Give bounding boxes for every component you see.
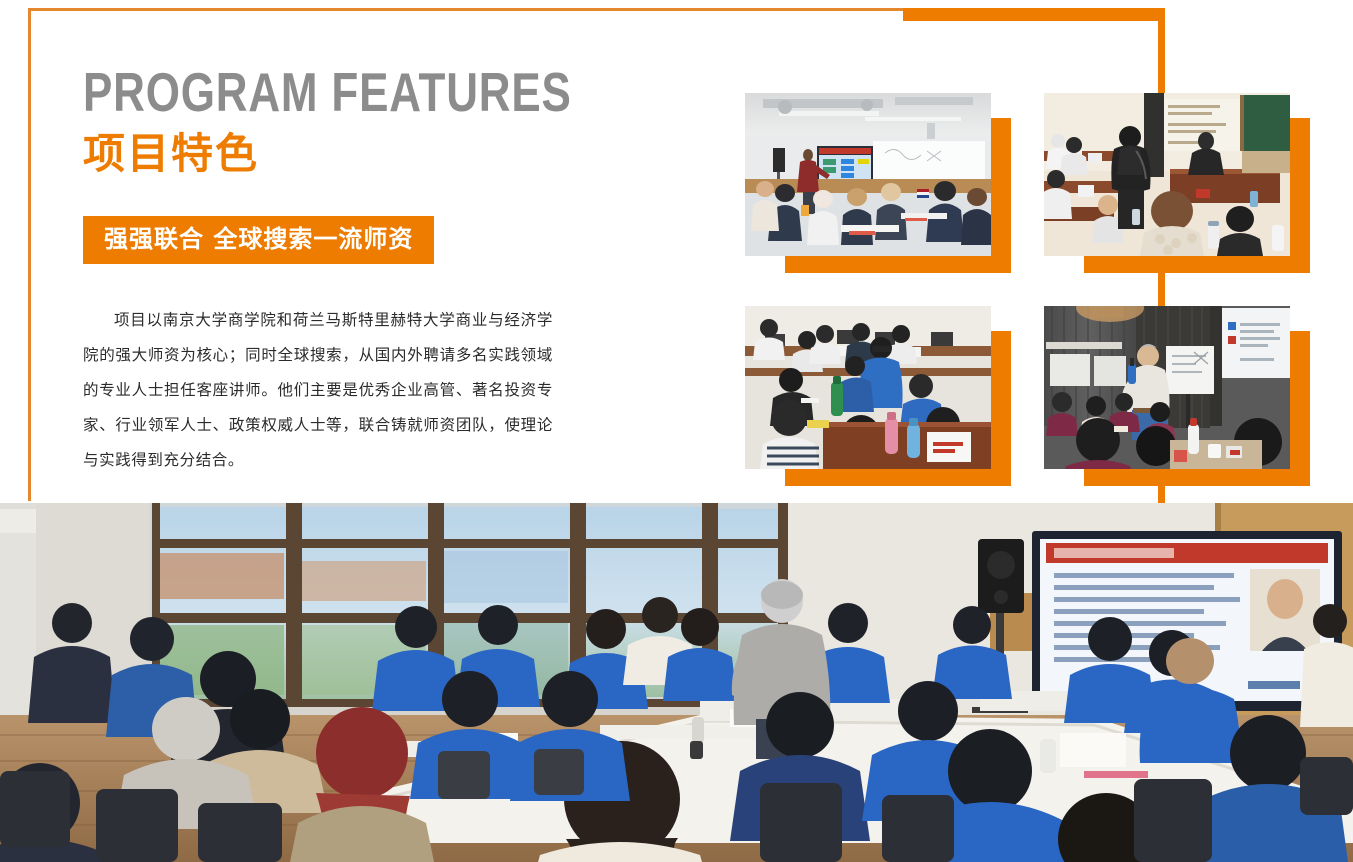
photo-guest-lecturer: [1044, 306, 1290, 469]
frame-left-line: [28, 8, 31, 501]
frame-top-line: [28, 8, 905, 11]
photo-group-workshop: [745, 306, 991, 469]
gallery-item-top-left: [745, 93, 1011, 273]
page-title-chinese: 项目特色: [83, 128, 259, 180]
photo-hero-lecture-hall: [0, 503, 1353, 862]
page-title-english: PROGRAM FEATURES: [83, 60, 572, 124]
photo-seminar-discussion: [1044, 93, 1290, 256]
gallery-item-top-right: [1044, 93, 1310, 273]
photo-classroom-presentation: [745, 93, 991, 256]
gallery-item-bottom-left: [745, 306, 1011, 486]
program-features-page: PROGRAM FEATURES 项目特色 强强联合 全球搜索一流师资 项目以南…: [0, 0, 1353, 862]
body-paragraph: 项目以南京大学商学院和荷兰马斯特里赫特大学商业与经济学院的强大师资为核心；同时全…: [83, 303, 553, 478]
gallery-item-bottom-right: [1044, 306, 1310, 486]
section-tag-badge: 强强联合 全球搜索一流师资: [83, 216, 434, 264]
accent-bar-top-right: [903, 8, 1165, 21]
